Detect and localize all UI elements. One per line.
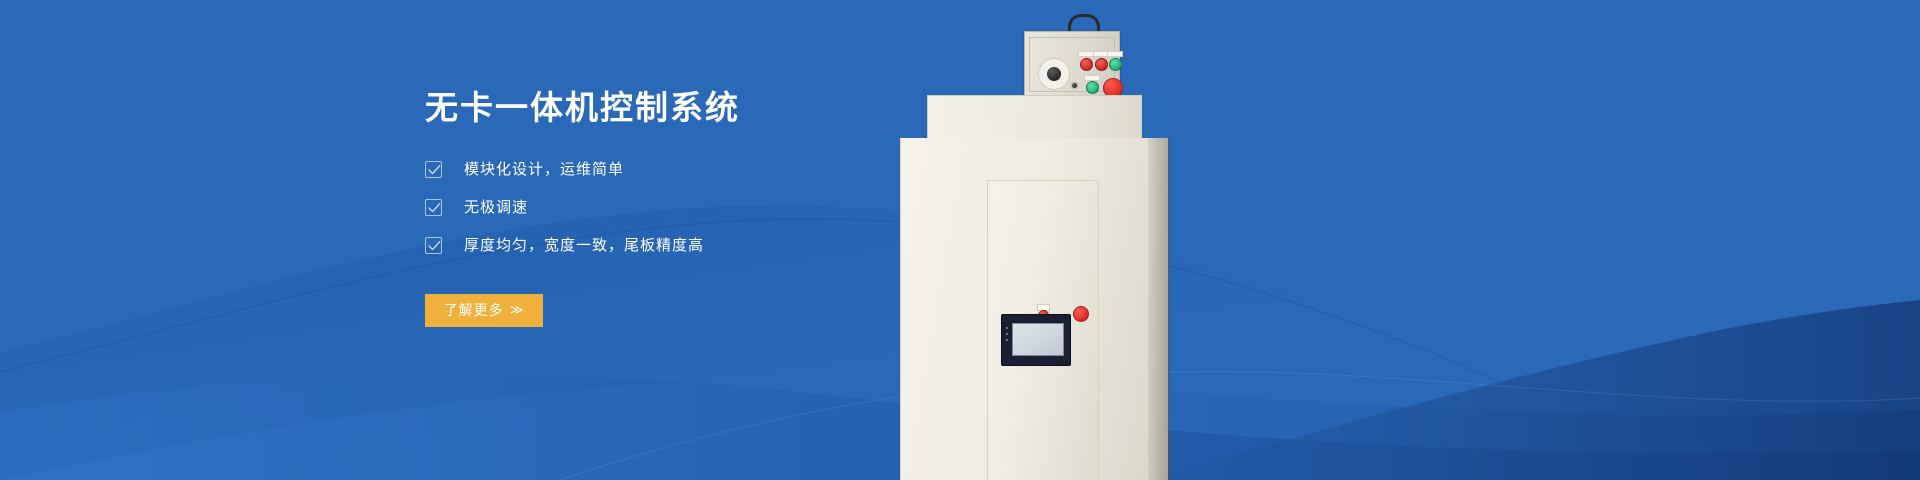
hmi-display xyxy=(1012,323,1064,356)
push-button-red-1[interactable] xyxy=(1080,58,1093,71)
selector-knob[interactable] xyxy=(1038,58,1070,90)
hmi-indicator-dots xyxy=(1006,327,1008,347)
list-item: 模块化设计，运维简单 xyxy=(425,158,945,182)
cabinet-top-cap xyxy=(927,95,1142,139)
hero-banner: 无卡一体机控制系统 模块化设计，运维简单 无极调速 xyxy=(0,0,1920,480)
page-title: 无卡一体机控制系统 xyxy=(425,88,945,128)
feature-list: 模块化设计，运维简单 无极调速 厚度均匀，宽度一致，尾板精度高 xyxy=(425,158,945,258)
cabinet-side-shadow xyxy=(1148,138,1170,480)
check-square-icon xyxy=(425,237,442,254)
feature-label: 模块化设计，运维简单 xyxy=(464,162,624,177)
double-chevron-right-icon: ≫ xyxy=(510,302,525,318)
hmi-touchscreen[interactable] xyxy=(1001,314,1071,366)
list-item: 厚度均匀，宽度一致，尾板精度高 xyxy=(425,234,945,258)
check-square-icon xyxy=(425,161,442,178)
check-square-icon xyxy=(425,199,442,216)
cabinet-button-red-2[interactable] xyxy=(1073,306,1089,322)
hero-content: 无卡一体机控制系统 模块化设计，运维简单 无极调速 xyxy=(425,88,945,327)
control-box-inner-panel xyxy=(1029,37,1115,92)
button-label-plate xyxy=(1107,51,1123,57)
push-button-green-1[interactable] xyxy=(1109,58,1122,71)
learn-more-label: 了解更多 xyxy=(444,300,504,320)
button-label-plate xyxy=(1078,51,1094,57)
list-item: 无极调速 xyxy=(425,196,945,220)
push-button-red-2[interactable] xyxy=(1095,58,1108,71)
control-box xyxy=(1024,31,1120,97)
learn-more-button[interactable]: 了解更多 ≫ xyxy=(425,294,543,327)
feature-label: 厚度均匀，宽度一致，尾板精度高 xyxy=(464,238,704,253)
mini-knob[interactable] xyxy=(1070,81,1079,90)
push-button-green-2[interactable] xyxy=(1086,81,1099,94)
feature-label: 无极调速 xyxy=(464,200,528,215)
